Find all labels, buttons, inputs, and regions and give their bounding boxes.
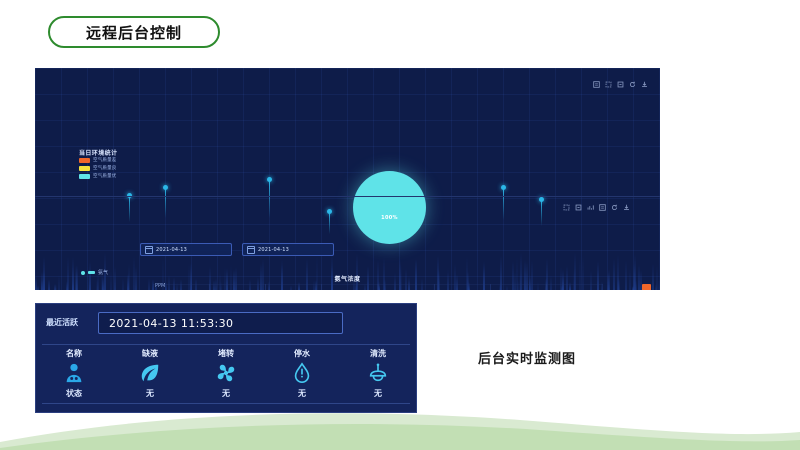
environment-legend: 空气质量差 空气质量良 空气质量优	[79, 157, 117, 181]
gas-line-chart[interactable]	[153, 284, 603, 290]
water-drop-icon	[291, 362, 313, 384]
status-column: 清洗	[340, 348, 416, 359]
gas-chart-title: 氨气浓度	[35, 274, 660, 283]
status-column: 状态	[36, 388, 112, 399]
save-image-icon[interactable]	[623, 204, 630, 211]
page-title: 远程后台控制	[86, 22, 182, 43]
status-column	[340, 362, 416, 384]
status-column: 停水	[264, 348, 340, 359]
status-column: 无	[264, 388, 340, 399]
status-header-row: 名称 缺液 堵转 停水 清洗	[36, 348, 416, 359]
page-title-badge: 远程后台控制	[48, 16, 220, 48]
zoom-reset-icon[interactable]	[617, 81, 624, 88]
status-column: 无	[340, 388, 416, 399]
status-value: 无	[374, 388, 382, 399]
data-view-icon[interactable]	[593, 81, 600, 88]
swatch[interactable]	[642, 284, 651, 290]
legend-swatch	[79, 174, 90, 179]
device-status-card: 最近活跃 2021-04-13 11:53:30 名称 缺液 堵转 停水 清洗	[35, 303, 417, 413]
restore-icon[interactable]	[629, 81, 636, 88]
legend-label: 空气质量优	[93, 173, 117, 179]
legend-item[interactable]: 空气质量优	[79, 173, 117, 179]
recent-active-time-field[interactable]: 2021-04-13 11:53:30	[98, 312, 343, 334]
save-image-icon[interactable]	[641, 81, 648, 88]
fan-icon	[215, 362, 237, 384]
legend-item[interactable]: 空气质量良	[79, 165, 117, 171]
environment-stats-panel	[35, 68, 660, 196]
column-header: 清洗	[370, 348, 386, 359]
gas-chart-toolbar[interactable]	[563, 204, 630, 211]
legend-label: 空气质量良	[93, 165, 117, 171]
data-view-icon[interactable]	[599, 204, 606, 211]
status-column	[188, 362, 264, 384]
zoom-area-icon[interactable]	[605, 81, 612, 88]
status-value: 无	[222, 388, 230, 399]
dashboard-screenshot: 当日环境统计 空气质量差 空气质量良 空气质量优	[35, 68, 660, 290]
status-column: 名称	[36, 348, 112, 359]
spray-icon	[367, 362, 389, 384]
status-column	[264, 362, 340, 384]
zoom-area-icon[interactable]	[563, 204, 570, 211]
status-column: 无	[188, 388, 264, 399]
status-value-row: 状态 无 无 无 无	[36, 388, 416, 399]
column-header: 堵转	[218, 348, 234, 359]
legend-item[interactable]: 空气质量差	[79, 157, 117, 163]
recent-active-time-value: 2021-04-13 11:53:30	[109, 317, 233, 330]
chart-gridlines	[153, 284, 603, 290]
status-icon-row	[36, 362, 416, 384]
user-status-icon	[63, 362, 85, 384]
divider-line	[42, 403, 410, 404]
status-column: 堵转	[188, 348, 264, 359]
recent-active-label: 最近活跃	[46, 317, 78, 328]
legend-swatch	[79, 158, 90, 163]
status-value: 无	[298, 388, 306, 399]
leaf-icon	[139, 362, 161, 384]
environment-panel-title: 当日环境统计	[79, 148, 117, 157]
status-column: 无	[112, 388, 188, 399]
status-column	[36, 362, 112, 384]
figure-caption: 后台实时监测图	[478, 348, 576, 367]
gas-chart-color-swatches[interactable]	[642, 284, 651, 290]
column-header: 缺液	[142, 348, 158, 359]
legend-label: 空气质量差	[93, 157, 117, 163]
column-header: 停水	[294, 348, 310, 359]
zoom-reset-icon[interactable]	[575, 204, 582, 211]
column-header: 名称	[66, 348, 82, 359]
status-column	[112, 362, 188, 384]
status-value: 无	[146, 388, 154, 399]
environment-chart-toolbar[interactable]	[593, 81, 648, 88]
restore-icon[interactable]	[611, 204, 618, 211]
status-column: 缺液	[112, 348, 188, 359]
status-value: 状态	[66, 388, 82, 399]
line-bar-switch-icon[interactable]	[587, 204, 594, 211]
legend-swatch	[79, 166, 90, 171]
divider-line	[42, 344, 410, 345]
